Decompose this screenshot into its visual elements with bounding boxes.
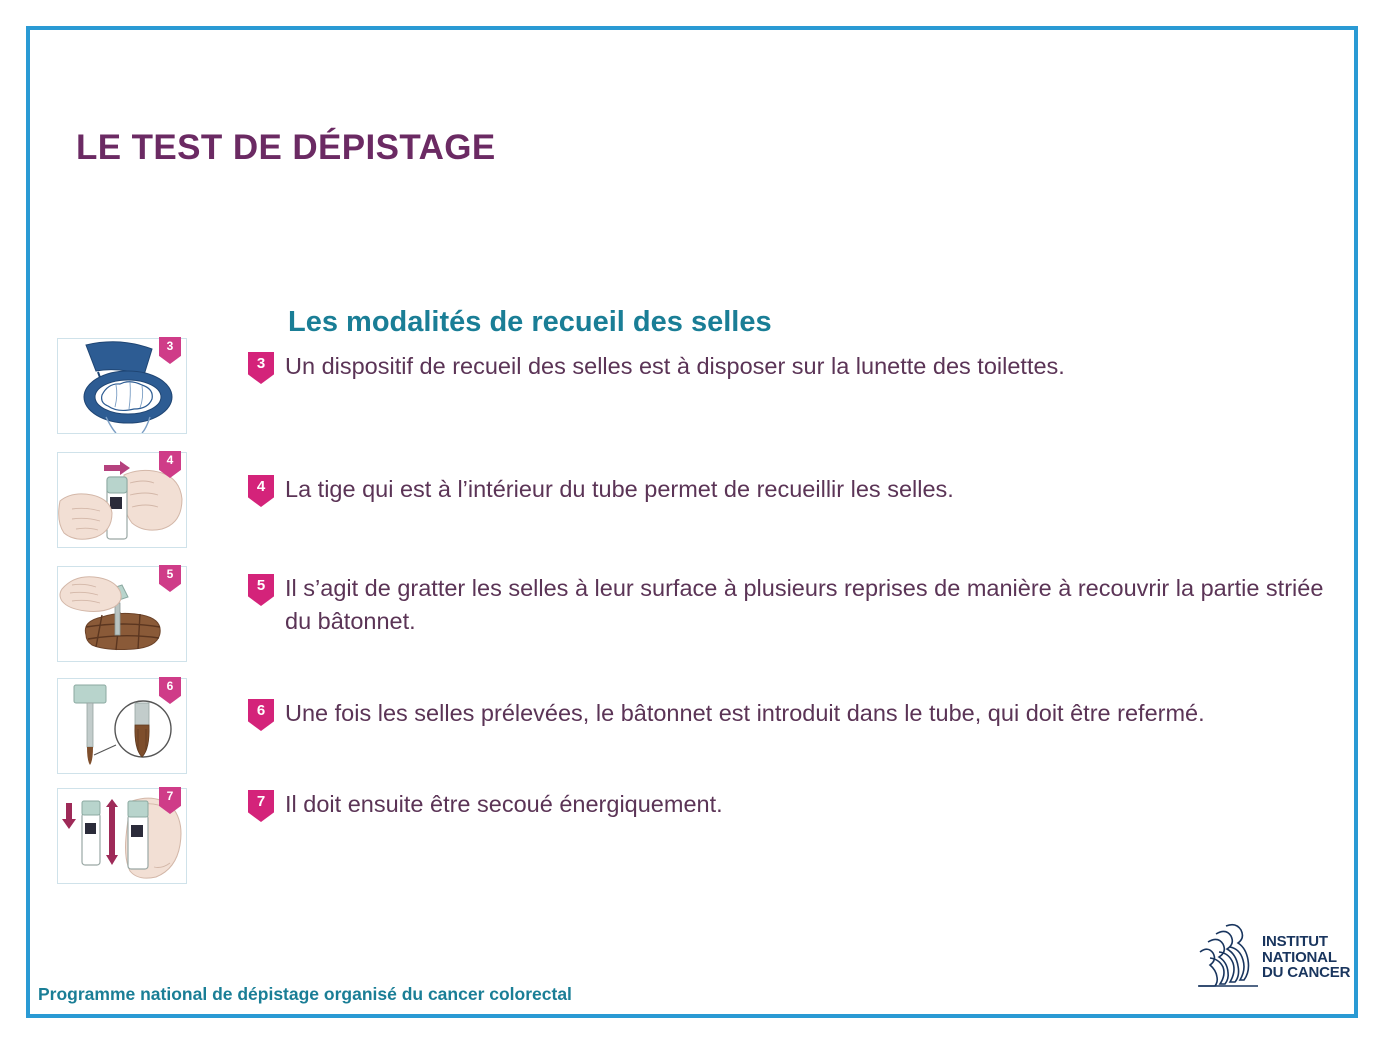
step-number: 6: [248, 700, 274, 721]
illustration-thumbnail-step-6: 6: [57, 678, 187, 774]
slide-border-frame: [26, 26, 1358, 1018]
page-title: LE TEST DE DÉPISTAGE: [76, 128, 496, 168]
step-number: 7: [248, 791, 274, 812]
step-text: Un dispositif de recueil des selles est …: [285, 350, 1065, 383]
step-text: Il doit ensuite être secoué énergiquemen…: [285, 788, 723, 821]
thumbnail-step-badge-5: 5: [159, 565, 181, 592]
thumbnail-step-number: 3: [159, 337, 181, 356]
logo-line-1: INSTITUT: [1262, 934, 1350, 950]
logo-wordmark: INSTITUT NATIONAL DU CANCER: [1262, 934, 1350, 981]
slide-canvas: LE TEST DE DÉPISTAGE Les modalités de re…: [0, 0, 1386, 1046]
thumbnail-step-badge-6: 6: [159, 677, 181, 704]
thumbnail-step-number: 7: [159, 787, 181, 806]
step-number: 4: [248, 476, 274, 497]
illustration-thumbnail-step-5: 5: [57, 566, 187, 662]
step-text: Il s’agit de gratter les selles à leur s…: [285, 572, 1330, 638]
section-subtitle: Les modalités de recueil des selles: [288, 306, 772, 339]
step-item-5: 5 Il s’agit de gratter les selles à leur…: [248, 572, 1330, 638]
step-item-7: 7 Il doit ensuite être secoué énergiquem…: [248, 788, 1248, 822]
thumbnail-step-number: 4: [159, 451, 181, 470]
thumbnail-step-badge-4: 4: [159, 451, 181, 478]
step-item-3: 3 Un dispositif de recueil des selles es…: [248, 350, 1308, 384]
logo-line-3: DU CANCER: [1262, 965, 1350, 981]
step-text: La tige qui est à l’intérieur du tube pe…: [285, 473, 954, 506]
footer-program-label: Programme national de dépistage organisé…: [38, 984, 572, 1005]
illustration-thumbnail-step-4: 4: [57, 452, 187, 548]
thumbnail-step-number: 5: [159, 565, 181, 584]
step-number: 3: [248, 353, 274, 374]
logo-line-2: NATIONAL: [1262, 950, 1350, 966]
institut-national-du-cancer-logo: INSTITUT NATIONAL DU CANCER: [1196, 922, 1348, 990]
thumbnail-step-number: 6: [159, 677, 181, 696]
thumbnail-step-badge-3: 3: [159, 337, 181, 364]
step-item-4: 4 La tige qui est à l’intérieur du tube …: [248, 473, 1308, 507]
thumbnail-step-badge-7: 7: [159, 787, 181, 814]
step-badge-6: 6: [248, 699, 274, 731]
step-item-6: 6 Une fois les selles prélevées, le bâto…: [248, 697, 1258, 731]
illustration-thumbnail-step-3: 3: [57, 338, 187, 434]
illustration-thumbnail-step-7: 7: [57, 788, 187, 884]
step-text: Une fois les selles prélevées, le bâtonn…: [285, 697, 1205, 730]
step-badge-7: 7: [248, 790, 274, 822]
step-number: 5: [248, 575, 274, 596]
inca-figures-icon: [1196, 922, 1266, 988]
step-badge-4: 4: [248, 475, 274, 507]
step-badge-5: 5: [248, 574, 274, 606]
step-badge-3: 3: [248, 352, 274, 384]
